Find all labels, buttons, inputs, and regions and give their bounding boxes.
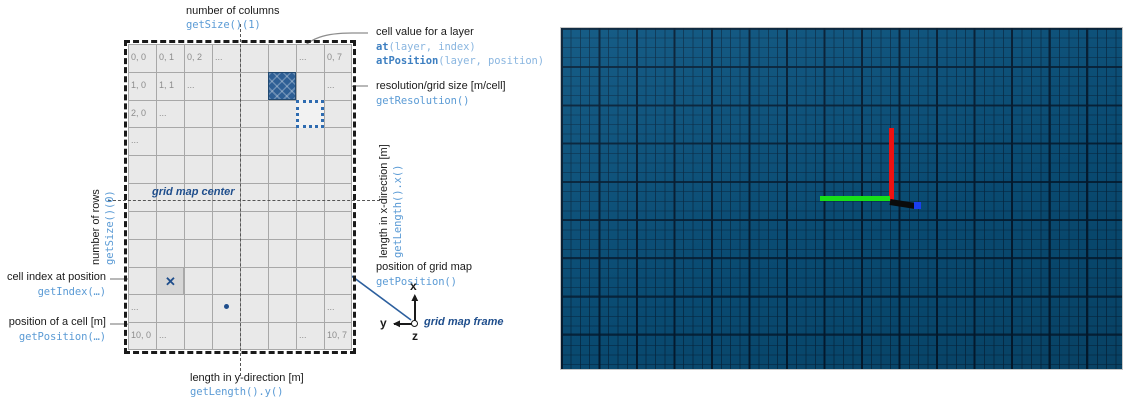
cell-index-at-position-code: getIndex(…) [0,286,106,299]
viewport-axis-y-green [820,196,890,201]
viewport-axis-x-red [889,128,894,201]
frame-axis-y-label: y [380,317,387,329]
grid-map-diagram: ✕ 0, 00, 10, 2......0, 71, 01, 1......2,… [0,0,560,400]
cell-value-code-1: at(layer, index) [376,41,476,54]
length-x-label: length in x-direction [m] [378,144,391,258]
grid-cell-label: 10, 7 [327,330,347,340]
center-line-vertical [240,24,241,376]
grid-cell-label: 0, 7 [327,52,342,62]
grid-cell-label: ... [215,52,223,62]
grid-cell-label: 0, 1 [159,52,174,62]
at-fn-name: at [376,41,388,53]
cell-value-label: cell value for a layer [376,26,474,39]
viewport-axis-z-blue-tip [914,202,921,209]
position-of-grid-map-label: position of grid map [376,261,472,274]
grid-cell-label: 1, 0 [131,80,146,90]
figure-root: ✕ 0, 00, 10, 2......0, 71, 01, 1......2,… [0,0,1138,400]
grid-cell-label: ... [299,52,307,62]
grid-map-center-label: grid map center [152,186,235,198]
grid-cell-label: 10, 0 [131,330,151,340]
grid-cell-label: ... [327,80,335,90]
grid-cell-label: 0, 2 [187,52,202,62]
grid-cell-label: ... [131,302,139,312]
grid-map-frame-label: grid map frame [424,316,503,328]
position-of-a-cell-code: getPosition(…) [0,331,106,344]
frame-axis-z-label: z [412,330,418,342]
number-of-rows-code: getSize()(0) [104,190,117,265]
resolution-label: resolution/grid size [m/cell] [376,80,506,93]
grid-cell-label: ... [187,80,195,90]
number-of-columns-code: getSize()(1) [186,19,261,32]
number-of-rows-label: number of rows [90,189,103,265]
grid-cell-label: ... [159,330,167,340]
frame-axis-x-label: x [410,280,417,292]
atposition-fn-name: atPosition [376,55,438,67]
number-of-columns-label: number of columns [186,5,280,18]
grid-cell-label: ... [327,302,335,312]
position-of-a-cell-label: position of a cell [m] [0,316,106,329]
resolution-cell-highlight [296,100,324,128]
grid-cell-label: ... [159,108,167,118]
cell-value-highlight [268,72,296,100]
grid-map-3d-viewport[interactable] [560,27,1123,370]
atposition-fn-args: (layer, position) [438,55,544,67]
grid-cell-label: 2, 0 [131,108,146,118]
cell-value-code-2: atPosition(layer, position) [376,55,544,68]
center-line-horizontal [108,200,380,201]
grid-line-vertical [296,44,297,350]
grid-line-vertical [324,44,325,350]
grid-cell-label: ... [299,330,307,340]
cell-index-marker: ✕ [165,275,176,288]
length-y-code: getLength().y() [190,386,283,399]
length-x-code: getLength().x() [392,165,405,258]
grid-cell-label: 1, 1 [159,80,174,90]
at-fn-args: (layer, index) [388,41,475,53]
length-y-label: length in y-direction [m] [190,372,304,385]
grid-cell-label: 0, 0 [131,52,146,62]
grid-map-frame-axes: x y z grid map frame [392,288,512,348]
grid-cell-label: ... [131,135,139,145]
resolution-code: getResolution() [376,95,469,108]
cell-index-at-position-label: cell index at position [0,271,106,284]
